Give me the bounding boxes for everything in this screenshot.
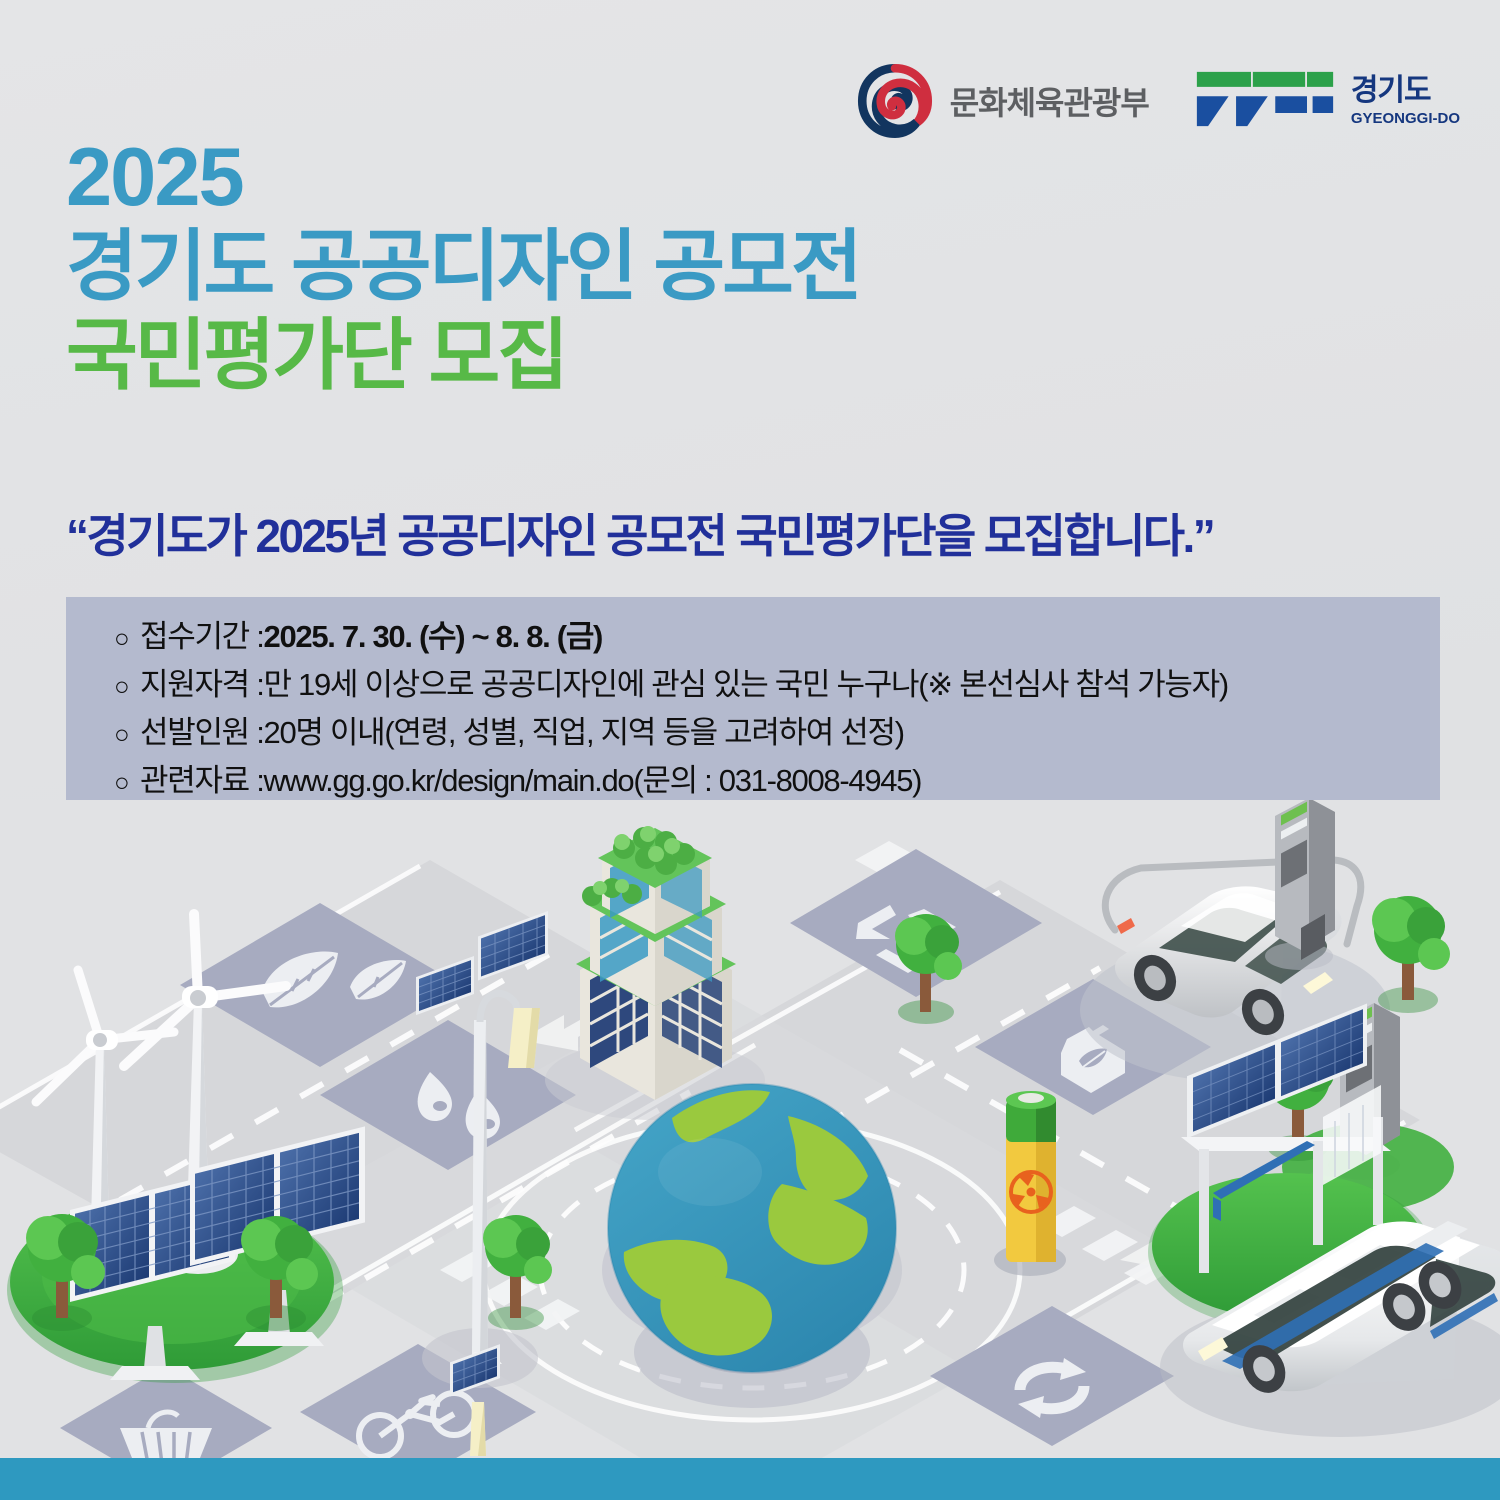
- ministry-logo-group: 문화체육관광부: [856, 62, 1149, 140]
- info-row-application-period: ○ 접수기간 : 2025. 7. 30. (수) ~ 8. 8. (금): [66, 613, 1440, 661]
- province-label-eng: GYEONGGI-DO: [1351, 111, 1460, 126]
- info-value-url[interactable]: www.gg.go.kr/design/main.do: [264, 757, 634, 805]
- title-line-2: 국민평가단 모집: [66, 312, 1386, 399]
- info-label: 선발인원 :: [140, 709, 264, 757]
- title-line-1: 경기도 공공디자인 공모전: [66, 223, 1386, 310]
- title-year: 2025: [66, 138, 1386, 217]
- info-tail: (연령, 성별, 직업, 지역 등을 고려하여 선정): [384, 709, 903, 757]
- header-logo-row: 문화체육관광부 경기도 GYEONGGI-DO: [856, 62, 1460, 140]
- info-value: 만 19세 이상으로 공공디자인에 관심 있는 국민 누구나: [264, 661, 919, 709]
- province-logo-group: 경기도 GYEONGGI-DO: [1195, 68, 1460, 135]
- info-label: 지원자격 :: [140, 661, 264, 709]
- info-tail: (※ 본선심사 참석 가능자): [918, 661, 1228, 709]
- info-label: 관련자료 :: [140, 757, 264, 805]
- korea-government-taegeuk-logo: [856, 62, 934, 140]
- info-label: 접수기간 :: [140, 613, 264, 661]
- bullet-icon: ○: [114, 618, 140, 658]
- info-panel: ○ 접수기간 : 2025. 7. 30. (수) ~ 8. 8. (금) ○ …: [66, 597, 1440, 802]
- gyeonggi-do-symbol: [1195, 68, 1335, 135]
- bullet-icon: ○: [114, 666, 140, 706]
- bullet-icon: ○: [114, 714, 140, 754]
- info-tail: (문의 : 031-8008-4945): [633, 757, 921, 805]
- bottom-accent-bar: [0, 1458, 1500, 1500]
- province-label-block: 경기도 GYEONGGI-DO: [1351, 76, 1460, 126]
- globe-icon: [608, 1084, 896, 1408]
- poster-root: 문화체육관광부 경기도 GYEONGGI-DO 2025: [0, 0, 1500, 1500]
- info-row-selection-count: ○ 선발인원 : 20명 이내 (연령, 성별, 직업, 지역 등을 고려하여 …: [66, 709, 1440, 757]
- province-label-kor: 경기도: [1351, 76, 1431, 106]
- page-title: 2025 경기도 공공디자인 공모전 국민평가단 모집: [66, 138, 1386, 400]
- illustration-scene: [0, 800, 1500, 1460]
- subtitle: “경기도가 2025년 공공디자인 공모전 국민평가단을 모집합니다.”: [66, 500, 1456, 566]
- info-value: 20명 이내: [264, 709, 385, 757]
- info-row-reference: ○ 관련자료 : www.gg.go.kr/design/main.do (문의…: [66, 757, 1440, 805]
- ministry-label: 문화체육관광부: [950, 78, 1149, 124]
- info-row-eligibility: ○ 지원자격 : 만 19세 이상으로 공공디자인에 관심 있는 국민 누구나 …: [66, 661, 1440, 709]
- info-value: 2025. 7. 30. (수) ~ 8. 8. (금): [264, 613, 603, 661]
- bullet-icon: ○: [114, 762, 140, 802]
